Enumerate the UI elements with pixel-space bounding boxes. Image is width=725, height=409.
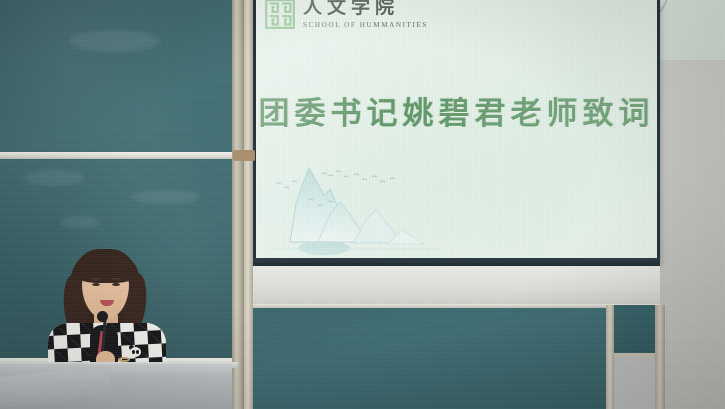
classroom-scene: 7 6 5 人文学院 SCHOOL OF HUMMA: [0, 0, 725, 409]
slide-logo-chinese-name: 人文学院: [303, 0, 428, 18]
wall-band-below-screen: [236, 266, 660, 304]
microphone-icon: [97, 311, 108, 322]
projection-screen-roller: [253, 258, 660, 266]
panda-icon: [128, 345, 143, 358]
wall-right-panel: [660, 0, 725, 409]
blackboard-lower-strip: [236, 308, 612, 409]
blackboard-right-panel: [612, 305, 660, 357]
ink-wash-mountain-illustration: [262, 156, 492, 256]
window-frame-column-inner: [244, 0, 253, 409]
projection-screen: 人文学院 SCHOOL OF HUMMANITIES 团委书记姚碧君老师致词: [256, 0, 657, 258]
slide-title: 团委书记姚碧君老师致词: [256, 88, 657, 133]
eye-right: [112, 283, 120, 286]
eye-left: [92, 283, 100, 286]
wall-right-upper-panel: [660, 0, 725, 60]
wall-pillar-inner: [606, 305, 614, 409]
chalkboard-rail-middle: [0, 152, 233, 159]
wall-pillar-right: [655, 305, 665, 409]
slide-logo-english-name: SCHOOL OF HUMMANITIES: [303, 21, 428, 29]
frame-bracket: [233, 150, 255, 161]
chinese-meander-seal-icon: [265, 0, 295, 29]
slide-logo: 人文学院 SCHOOL OF HUMMANITIES: [265, 0, 428, 29]
window-frame-column-outer: [232, 0, 244, 409]
speaker-person: [42, 247, 172, 377]
